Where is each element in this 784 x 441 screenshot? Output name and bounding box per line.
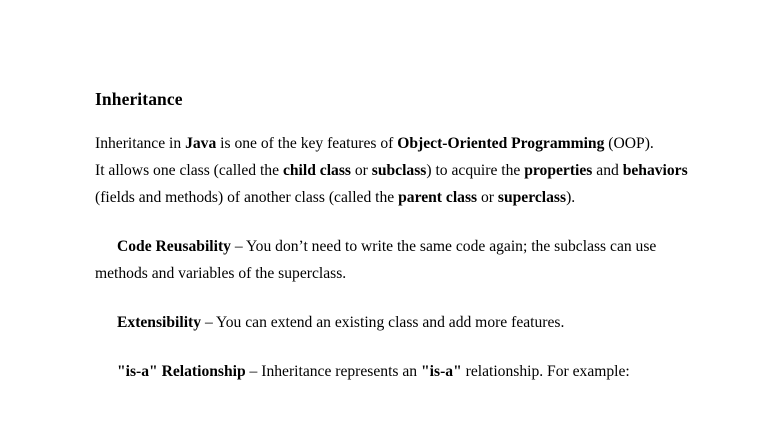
bold-run: Java	[185, 135, 216, 152]
bold-run: behaviors	[623, 162, 688, 179]
bold-run: Extensibility	[117, 314, 201, 331]
bold-run: superclass	[498, 189, 566, 206]
text-run: and	[592, 162, 622, 179]
paragraph-container: Inheritance in Java is one of the key fe…	[95, 130, 701, 385]
text-run: It allows one class (called the	[95, 162, 283, 179]
paragraph-gap	[95, 287, 701, 309]
paragraph-gap	[95, 211, 701, 233]
paragraph-is-a-relationship: "is-a" Relationship – Inheritance repres…	[95, 358, 701, 385]
bold-run: Code Reusability	[117, 238, 231, 255]
text-run: or	[477, 189, 498, 206]
text-run: is one of the key features of	[216, 135, 397, 152]
bold-run: "is-a"	[421, 363, 462, 380]
text-run: ) to acquire the	[426, 162, 524, 179]
heading-spacer	[95, 112, 701, 130]
bold-run: properties	[524, 162, 592, 179]
text-run: ).	[566, 189, 575, 206]
paragraph-code-reusability: Code Reusability – You don’t need to wri…	[95, 233, 701, 287]
page-title: Inheritance	[95, 86, 701, 112]
bold-run: child class	[283, 162, 351, 179]
bold-run: subclass	[372, 162, 427, 179]
text-run: Inheritance in	[95, 135, 185, 152]
bold-run: parent class	[398, 189, 477, 206]
bold-run: "is-a" Relationship	[117, 363, 246, 380]
document-page: Inheritance Inheritance in Java is one o…	[0, 0, 784, 441]
text-run: relationship. For example:	[462, 363, 630, 380]
text-run: (OOP).	[604, 135, 653, 152]
text-run: – Inheritance represents an	[246, 363, 421, 380]
paragraph-definition: It allows one class (called the child cl…	[95, 157, 701, 211]
paragraph-intro: Inheritance in Java is one of the key fe…	[95, 130, 701, 157]
paragraph-gap	[95, 336, 701, 358]
text-run: or	[351, 162, 372, 179]
document-body: Inheritance Inheritance in Java is one o…	[95, 86, 701, 385]
bold-run: Object-Oriented Programming	[397, 135, 604, 152]
text-run: – You can extend an existing class and a…	[201, 314, 564, 331]
paragraph-extensibility: Extensibility – You can extend an existi…	[95, 309, 701, 336]
text-run: (fields and methods) of another class (c…	[95, 189, 398, 206]
